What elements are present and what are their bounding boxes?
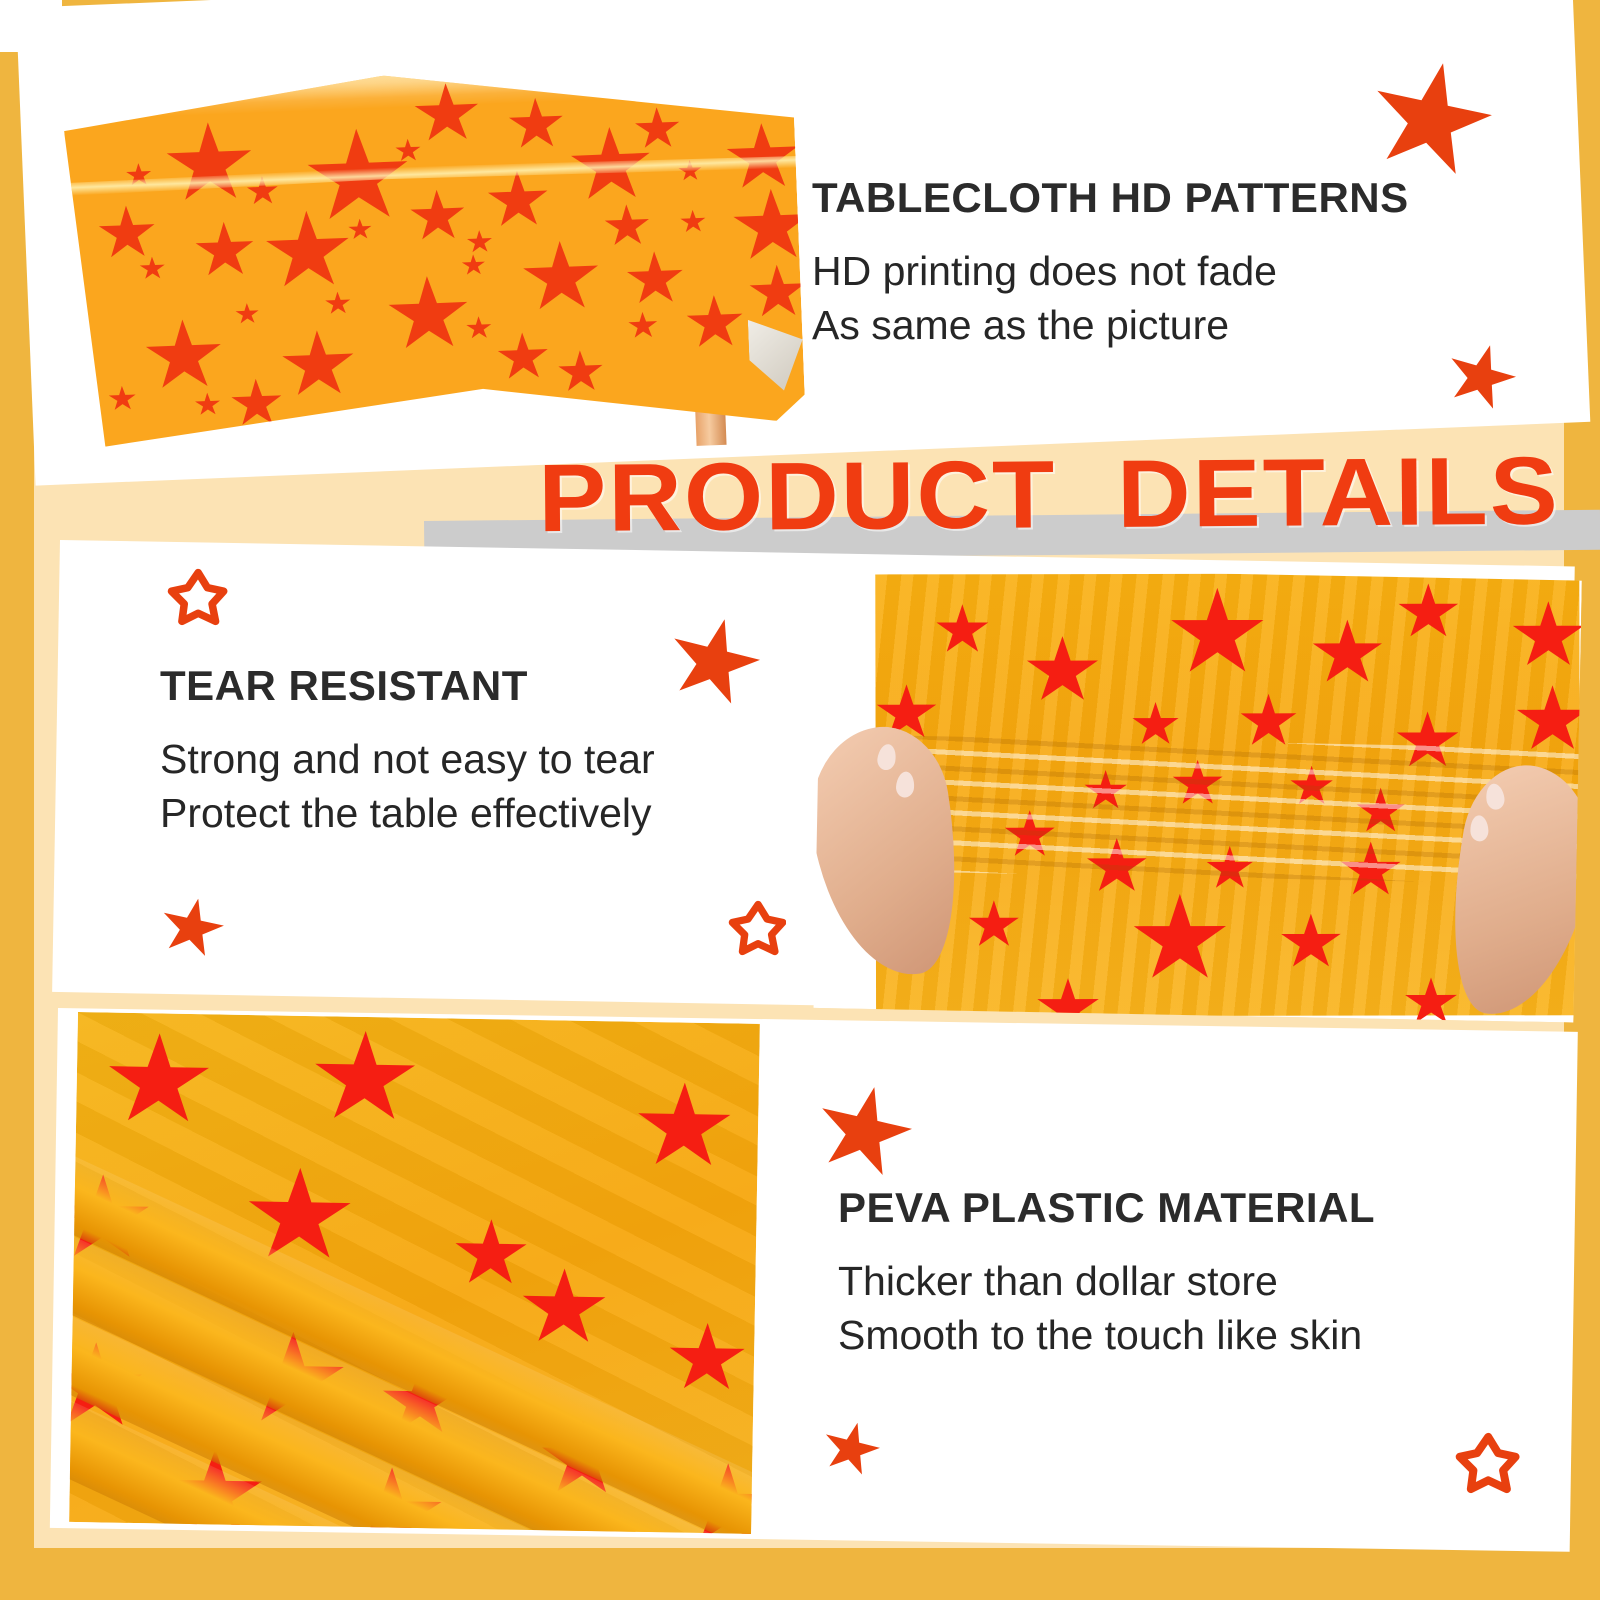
feature-heading-tear-resistant: TEAR RESISTANT <box>160 664 860 708</box>
product-image-tablecloth <box>62 50 819 470</box>
hands-scene <box>814 566 1582 1023</box>
feature-text-tear-resistant: TEAR RESISTANT Strong and not easy to te… <box>160 664 860 840</box>
star-outline-icon <box>1454 1432 1520 1494</box>
corner-accent-bottom-right <box>1560 1554 1600 1600</box>
feature-line1-tablecloth: HD printing does not fade <box>812 244 1552 298</box>
tablecloth-surface <box>62 60 805 448</box>
product-image-hands-stretching <box>814 566 1582 1023</box>
feature-line1-peva-material: Thicker than dollar store <box>838 1254 1538 1308</box>
feature-line2-peva-material: Smooth to the touch like skin <box>838 1308 1538 1362</box>
product-image-folded-plastic <box>69 1012 760 1534</box>
page-title: PRODUCT DETAILS <box>418 443 1600 548</box>
feature-heading-tablecloth: TABLECLOTH HD PATTERNS <box>812 176 1552 220</box>
star-outline-icon <box>728 900 786 956</box>
feature-line1-tear-resistant: Strong and not easy to tear <box>160 732 860 786</box>
feature-heading-peva-material: PEVA PLASTIC MATERIAL <box>838 1186 1538 1230</box>
tablecloth-scene <box>62 50 819 470</box>
infographic-canvas: TABLECLOTH HD PATTERNS HD printing does … <box>0 0 1600 1600</box>
feature-text-peva-material: PEVA PLASTIC MATERIAL Thicker than dolla… <box>838 1186 1538 1362</box>
feature-text-tablecloth: TABLECLOTH HD PATTERNS HD printing does … <box>812 176 1552 352</box>
star-outline-icon <box>166 568 228 626</box>
feature-line2-tablecloth: As same as the picture <box>812 298 1552 352</box>
feature-line2-tear-resistant: Protect the table effectively <box>160 786 860 840</box>
folded-plastic-scene <box>69 1012 760 1534</box>
